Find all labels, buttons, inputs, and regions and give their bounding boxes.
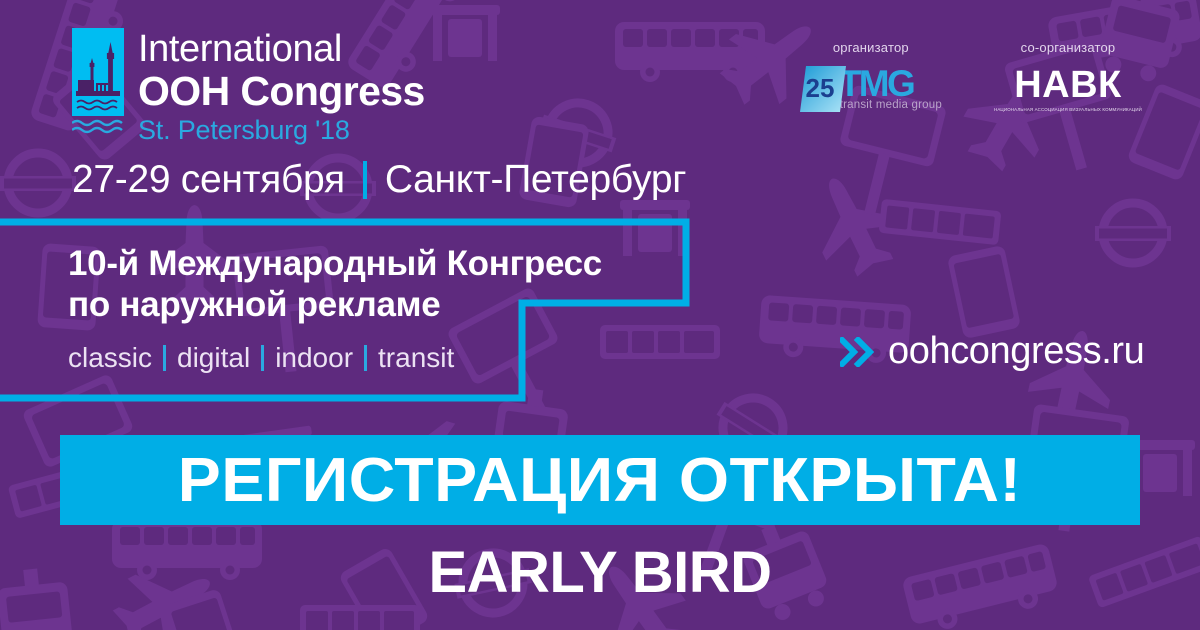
congress-title-line2: по наружной рекламе xyxy=(68,284,602,325)
navk-tagline: национальная ассоциация визуальных комму… xyxy=(994,107,1142,112)
ooh-congress-promo-banner: International OOH Congress St. Petersbur… xyxy=(0,0,1200,630)
dateline-separator-icon xyxy=(363,161,367,199)
sponsor-logos: организатор 25 TMG xyxy=(800,40,1142,112)
logo-line-international: International xyxy=(138,30,425,68)
double-chevron-right-icon xyxy=(840,337,874,367)
logo-line-city-year: St. Petersburg '18 xyxy=(138,117,425,144)
event-city: Санкт-Петербург xyxy=(385,158,686,202)
sponsor-organizer: организатор 25 TMG xyxy=(800,40,942,112)
tmg-wordmark: TMG transit media group xyxy=(839,67,942,110)
sponsor-label-co-organizer: со-организатор xyxy=(1021,40,1116,55)
tmg-letters: TMG xyxy=(839,67,942,101)
sponsor-label-organizer: организатор xyxy=(833,40,909,55)
tmg-25-years-badge-icon: 25 xyxy=(800,66,846,112)
category-separator-icon xyxy=(364,345,367,371)
website-url-text: oohcongress.ru xyxy=(888,330,1144,373)
congress-logo-lockup: International OOH Congress St. Petersbur… xyxy=(72,28,425,144)
registration-banner-text: РЕГИСТРАЦИЯ ОТКРЫТА! xyxy=(178,445,1022,516)
tmg-logo[interactable]: 25 TMG transit media group xyxy=(800,66,942,112)
category-classic: classic xyxy=(68,342,152,374)
category-separator-icon xyxy=(261,345,264,371)
website-link[interactable]: oohcongress.ru xyxy=(840,330,1144,373)
st-petersburg-skyline-logo-icon xyxy=(72,28,124,134)
event-dates: 27-29 сентября xyxy=(72,158,345,202)
svg-text:25: 25 xyxy=(805,73,834,103)
early-bird-label: EARLY BIRD xyxy=(0,539,1200,606)
category-digital: digital xyxy=(177,342,250,374)
congress-categories: classic digital indoor transit xyxy=(68,342,602,374)
sponsor-co-organizer: со-организатор НАВК национальная ассоциа… xyxy=(994,40,1142,112)
navk-letters: НАВК xyxy=(1014,66,1122,104)
congress-title-line1: 10-й Международный Конгресс xyxy=(68,243,602,284)
category-separator-icon xyxy=(163,345,166,371)
registration-open-banner[interactable]: РЕГИСТРАЦИЯ ОТКРЫТА! xyxy=(60,435,1140,525)
logo-line-ooh-congress: OOH Congress xyxy=(138,71,425,112)
logo-wordmark: International OOH Congress St. Petersbur… xyxy=(138,28,425,144)
event-dateline: 27-29 сентября Санкт-Петербург xyxy=(72,158,686,202)
tmg-tagline: transit media group xyxy=(840,99,942,111)
category-indoor: indoor xyxy=(275,342,353,374)
congress-title-block: 10-й Международный Конгресс по наружной … xyxy=(68,243,602,374)
category-transit: transit xyxy=(378,342,454,374)
navk-logo[interactable]: НАВК национальная ассоциация визуальных … xyxy=(994,66,1142,112)
